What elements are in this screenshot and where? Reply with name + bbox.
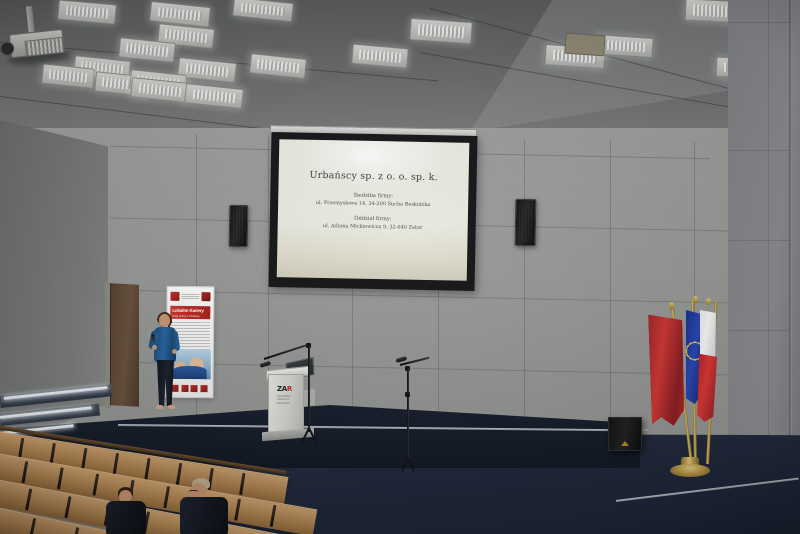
slide-title: Urbańscy sp. z o. o. sp. k. xyxy=(279,170,469,185)
projection-screen: Urbańscy sp. z o. o. sp. k. Siedziba fir… xyxy=(269,132,478,291)
ceiling-light-panel xyxy=(249,53,307,79)
slide-headquarters-address: ul. Przemysłowa 14, 34-200 Sucha Beskidz… xyxy=(278,200,468,210)
mic-stand-pole xyxy=(308,346,310,432)
wall-panel-seam xyxy=(524,140,525,432)
ceiling-light-panel xyxy=(409,18,472,44)
projector-mount xyxy=(26,6,35,32)
banner-sponsor-logos xyxy=(170,291,210,302)
sponsor-logo-text xyxy=(181,294,199,299)
banner-headline: Lokalne Kariery xyxy=(172,307,204,312)
flag-base xyxy=(670,464,710,477)
projection-screen-surface: Urbańscy sp. z o. o. sp. k. Siedziba fir… xyxy=(277,139,470,281)
mic-height-clamp[interactable] xyxy=(405,392,410,397)
wall-panel-seam xyxy=(768,0,769,470)
presenter-shoe-left xyxy=(156,405,163,409)
microphone-head xyxy=(259,361,271,368)
ceiling-light-panel xyxy=(41,63,95,88)
flag-finial-icon xyxy=(693,296,698,303)
wall-panel-seam xyxy=(728,150,790,151)
flag-finial-icon xyxy=(706,298,711,305)
flag-stand xyxy=(648,292,738,477)
wall-panel-seam xyxy=(728,22,790,23)
ceiling-vent xyxy=(564,33,605,57)
ceiling xyxy=(0,0,800,132)
ceiling-light-panel xyxy=(351,44,409,69)
conference-hall-photo: Urbańscy sp. z o. o. sp. k. Siedziba fir… xyxy=(0,0,800,534)
presenter-head xyxy=(159,314,170,327)
ceiling-light-panel xyxy=(57,0,117,24)
mic-boom-arm xyxy=(264,344,308,360)
sponsor-logo-icon xyxy=(170,292,179,301)
flag-poland-red-band xyxy=(697,354,717,423)
presenter-legs xyxy=(157,360,174,406)
ceiling-light-panel xyxy=(232,0,294,22)
flag-finial-icon xyxy=(669,302,674,309)
stage-door[interactable] xyxy=(110,283,139,407)
audience-torso xyxy=(106,501,146,534)
presenter-hand-right xyxy=(172,349,177,354)
presenter xyxy=(148,314,186,418)
audience-seating xyxy=(0,424,510,534)
wall-panel-seam xyxy=(728,240,790,241)
audience-torso xyxy=(180,497,228,534)
monitor-brand-icon xyxy=(621,441,629,446)
slide-content: Urbańscy sp. z o. o. sp. k. Siedziba fir… xyxy=(277,170,468,242)
stage-floor-monitor xyxy=(608,417,642,451)
wall-panel-seam xyxy=(610,140,611,432)
ceiling-projector xyxy=(0,25,65,65)
footer-logo-icon xyxy=(200,385,207,392)
ceiling-light-panel xyxy=(184,83,244,109)
flag-city-red xyxy=(648,313,686,426)
wall-speaker-left xyxy=(229,205,249,247)
eyeglasses-icon xyxy=(189,490,198,494)
audience-member-1 xyxy=(104,487,150,534)
presenter-hand-left xyxy=(152,345,157,350)
slide-branch-address: ul. Adama Mickiewicza 9, 32-640 Zator xyxy=(278,223,468,233)
footer-logo-icon xyxy=(191,385,198,392)
presenter-shoe-right xyxy=(168,405,175,409)
sponsor-logo-icon xyxy=(201,292,210,301)
audience-member-2 xyxy=(178,479,230,534)
projector-hotspot xyxy=(346,143,386,170)
wall-speaker-right xyxy=(515,199,537,246)
